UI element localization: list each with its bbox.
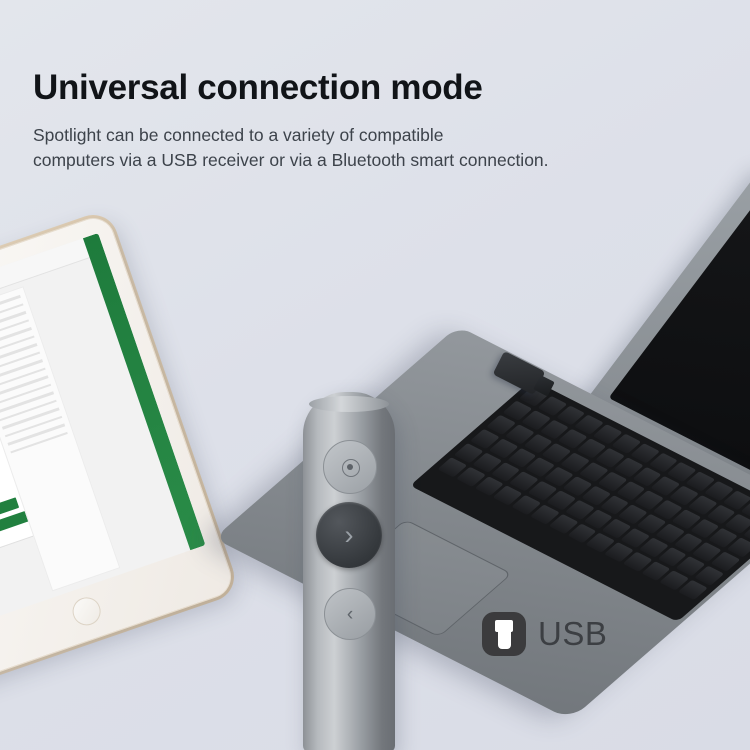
tablet-screen xyxy=(0,233,206,633)
usb-label: USB xyxy=(538,615,607,653)
next-button[interactable]: › xyxy=(316,502,382,568)
spotlight-button[interactable] xyxy=(323,440,377,494)
tablet-home-button[interactable] xyxy=(69,594,105,630)
presenter-remote: › ‹ xyxy=(303,392,395,750)
spreadsheet-accent-rail xyxy=(83,233,206,550)
usb-badge: USB xyxy=(482,612,607,656)
product-marketing-image: › ‹ Universal connection mode Spotlight … xyxy=(0,0,750,750)
spotlight-dot-icon xyxy=(347,464,353,470)
tablet-body xyxy=(0,212,237,688)
page-title: Universal connection mode xyxy=(33,68,483,108)
page-description: Spotlight can be connected to a variety … xyxy=(33,123,549,173)
description-line-2: computers via a USB receiver or via a Bl… xyxy=(33,148,549,173)
tablet-device xyxy=(0,212,237,688)
chevron-right-icon: › xyxy=(345,522,354,549)
usb-drive-body xyxy=(498,631,511,649)
back-button[interactable]: ‹ xyxy=(324,588,376,640)
laptop-device xyxy=(452,108,750,628)
description-line-1: Spotlight can be connected to a variety … xyxy=(33,123,549,148)
usb-drive-icon xyxy=(482,612,526,656)
spreadsheet-grid xyxy=(0,286,120,591)
chevron-left-icon: ‹ xyxy=(347,605,353,624)
